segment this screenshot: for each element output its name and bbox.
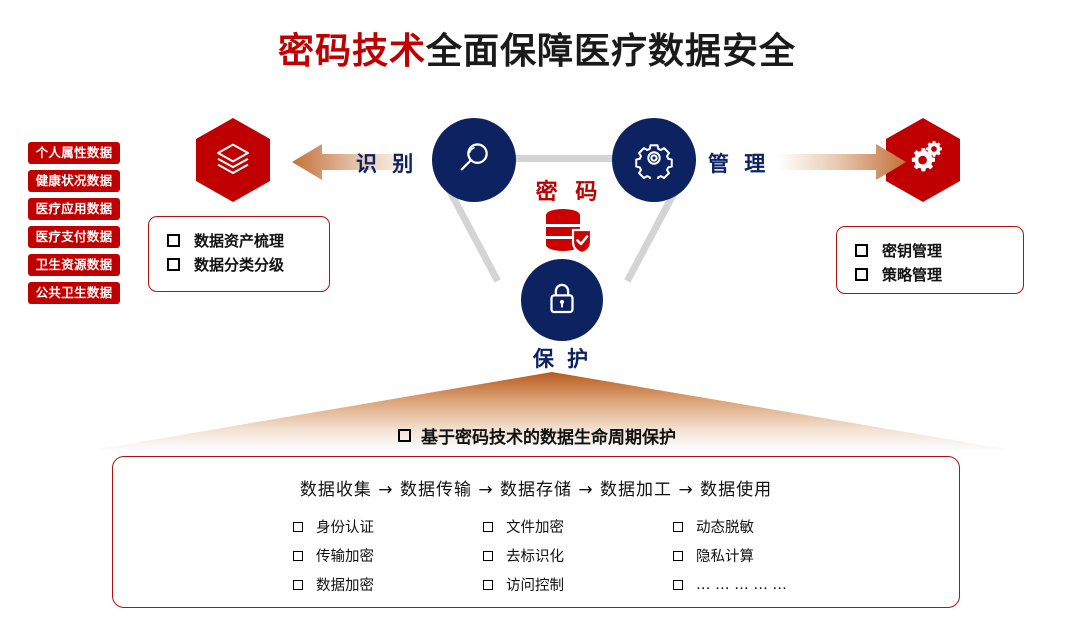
- database-shield-icon: [536, 206, 598, 254]
- measure-label: … … … … …: [696, 577, 787, 593]
- hexagon-data-assets: [196, 118, 270, 202]
- square-bullet-icon: [398, 429, 411, 442]
- crypto-core-label: 密 码: [514, 174, 624, 206]
- data-category-item[interactable]: 公共卫生数据: [28, 282, 120, 304]
- square-bullet-icon: [673, 580, 683, 590]
- lifecycle-heading-label: 基于密码技术的数据生命周期保护: [421, 428, 676, 448]
- measure-label: 动态脱敏: [696, 516, 754, 537]
- measure-label: 隐私计算: [696, 545, 754, 566]
- manage-action-label: 策略管理: [882, 264, 942, 285]
- flow-label-manage: 管 理: [708, 148, 769, 178]
- measure-item[interactable]: … … … … …: [673, 574, 863, 595]
- crypto-measures-grid: 身份认证 文件加密 动态脱敏 传输加密 去标识化 隐私计算 数据加密 访问控制: [113, 516, 959, 595]
- manage-action-item: 密钥管理: [855, 240, 1023, 261]
- square-bullet-icon: [293, 580, 303, 590]
- magnifier-icon: [453, 137, 495, 183]
- manage-action-label: 密钥管理: [882, 240, 942, 261]
- square-bullet-icon: [483, 551, 493, 561]
- square-bullet-icon: [855, 268, 868, 281]
- measure-label: 传输加密: [316, 545, 374, 566]
- measure-label: 访问控制: [506, 574, 564, 595]
- page-title-accent: 密码技术: [278, 31, 426, 72]
- measure-item[interactable]: 传输加密: [293, 545, 483, 566]
- measure-label: 文件加密: [506, 516, 564, 537]
- square-bullet-icon: [483, 522, 493, 532]
- measure-item[interactable]: 访问控制: [483, 574, 673, 595]
- identify-action-item: 数据资产梳理: [167, 230, 329, 251]
- lifecycle-heading: 基于密码技术的数据生命周期保护: [0, 423, 1074, 448]
- measure-label: 去标识化: [506, 545, 564, 566]
- manage-actions-box: 密钥管理 策略管理: [836, 226, 1024, 294]
- flow-label-identify: 识 别: [356, 148, 417, 178]
- layers-icon: [213, 138, 253, 182]
- data-category-item[interactable]: 健康状况数据: [28, 170, 120, 192]
- page-title: 密码技术全面保障医疗数据安全: [0, 22, 1074, 74]
- gears-icon: [903, 138, 943, 182]
- data-category-item[interactable]: 医疗支付数据: [28, 226, 120, 248]
- page-title-rest: 全面保障医疗数据安全: [426, 31, 796, 72]
- square-bullet-icon: [673, 551, 683, 561]
- data-category-item[interactable]: 医疗应用数据: [28, 198, 120, 220]
- measure-item[interactable]: 隐私计算: [673, 545, 863, 566]
- identify-actions-box: 数据资产梳理 数据分类分级: [148, 216, 330, 292]
- square-bullet-icon: [673, 522, 683, 532]
- manage-action-item: 策略管理: [855, 264, 1023, 285]
- measure-item[interactable]: 数据加密: [293, 574, 483, 595]
- data-category-list: 个人属性数据 健康状况数据 医疗应用数据 医疗支付数据 卫生资源数据 公共卫生数…: [28, 142, 124, 310]
- gear-icon: [633, 137, 675, 183]
- node-identify[interactable]: [432, 118, 516, 202]
- square-bullet-icon: [483, 580, 493, 590]
- measure-item[interactable]: 去标识化: [483, 545, 673, 566]
- arrow-right-manage: [778, 141, 906, 183]
- identify-action-label: 数据分类分级: [194, 254, 284, 275]
- measure-item[interactable]: 文件加密: [483, 516, 673, 537]
- flow-label-protect: 保 护: [521, 343, 603, 373]
- lifecycle-panel: 数据收集 → 数据传输 → 数据存储 → 数据加工 → 数据使用 身份认证 文件…: [112, 456, 960, 608]
- square-bullet-icon: [855, 244, 868, 257]
- data-category-item[interactable]: 卫生资源数据: [28, 254, 120, 276]
- square-bullet-icon: [293, 551, 303, 561]
- measure-label: 身份认证: [316, 516, 374, 537]
- lifecycle-flow-line: 数据收集 → 数据传输 → 数据存储 → 数据加工 → 数据使用: [113, 475, 959, 500]
- connector-identify-manage: [505, 155, 625, 162]
- square-bullet-icon: [167, 234, 180, 247]
- identify-action-label: 数据资产梳理: [194, 230, 284, 251]
- measure-item[interactable]: 动态脱敏: [673, 516, 863, 537]
- square-bullet-icon: [293, 522, 303, 532]
- node-protect[interactable]: [521, 259, 603, 341]
- measure-item[interactable]: 身份认证: [293, 516, 483, 537]
- lock-icon: [541, 277, 583, 323]
- data-category-item[interactable]: 个人属性数据: [28, 142, 120, 164]
- square-bullet-icon: [167, 258, 180, 271]
- node-manage[interactable]: [612, 118, 696, 202]
- measure-label: 数据加密: [316, 574, 374, 595]
- identify-action-item: 数据分类分级: [167, 254, 329, 275]
